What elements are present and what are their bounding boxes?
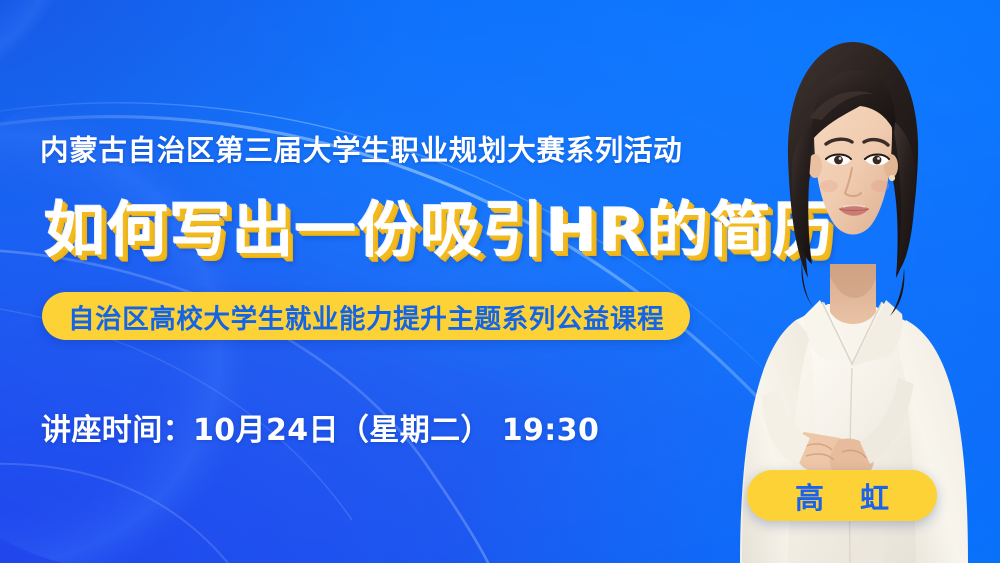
- earring-right: [889, 175, 895, 181]
- lecture-time: 讲座时间：10月24日（星期二） 19:30: [41, 405, 599, 449]
- eye-glint-right: [877, 157, 880, 160]
- speaker-name-badge: 高 虹: [747, 470, 937, 521]
- course-pill-text: 自治区高校大学生就业能力提升主题系列公益课程: [68, 297, 664, 336]
- iris-left: [834, 156, 843, 165]
- hair-tip-left: [802, 260, 815, 308]
- blush-right: [871, 180, 889, 192]
- event-series-title: 内蒙古自治区第三届大学生职业规划大赛系列活动: [40, 128, 682, 169]
- eye-glint-left: [839, 157, 842, 160]
- speaker-name-text: 高 虹: [782, 475, 902, 517]
- iris-right: [873, 156, 882, 165]
- blush-left: [820, 180, 838, 192]
- webinar-poster: 高 虹 内蒙古自治区第三届大学生职业规划大赛系列活动 如何写出一份吸引HR的简历…: [0, 0, 1000, 563]
- course-pill-badge: 自治区高校大学生就业能力提升主题系列公益课程: [42, 292, 690, 340]
- poster-text-block: 内蒙古自治区第三届大学生职业规划大赛系列活动 如何写出一份吸引HR的简历 自治区…: [0, 0, 720, 563]
